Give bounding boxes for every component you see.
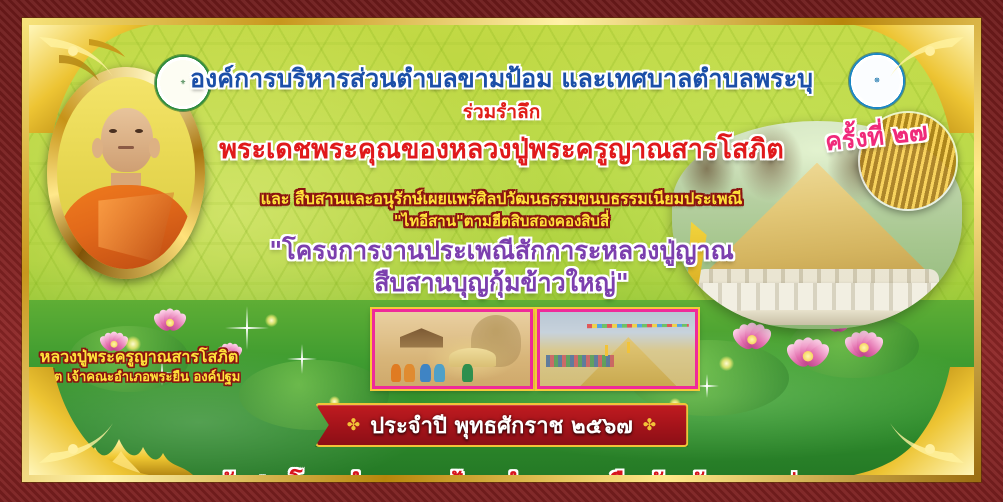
light-bokeh bbox=[265, 314, 278, 327]
festival-bunting-flags bbox=[587, 324, 689, 331]
painted-figure bbox=[391, 364, 402, 382]
lotus-flower bbox=[152, 305, 189, 331]
festival-flag bbox=[627, 342, 630, 354]
painted-hut bbox=[400, 328, 443, 347]
header-organizations: องค์การบริหารส่วนตำบลขามป้อม และเทศบาลตำ… bbox=[29, 59, 974, 99]
photo-village-painting bbox=[372, 309, 533, 389]
painted-figure bbox=[434, 364, 445, 382]
ribbon-ornament-right-icon: ✤ bbox=[643, 415, 656, 435]
painted-figure bbox=[404, 364, 415, 382]
photo-rice-festival bbox=[537, 309, 698, 389]
banner-canvas: ⚜ ☸ องค์การบริหารส่วนตำบลขามป้อม และเทศบ… bbox=[29, 25, 974, 475]
festival-flag bbox=[605, 345, 608, 357]
venue-line: ณ วัดสระโนน ตำบลขามป้อม อำเภอพระยืน จังห… bbox=[29, 463, 974, 475]
project-title-line-2: สืบสานบุญกุ้มข้าวใหญ่" bbox=[29, 263, 974, 303]
light-bokeh bbox=[719, 356, 734, 371]
painted-figure bbox=[462, 364, 473, 382]
year-ribbon: ✤ ประจำปี พุทธศักราช ๒๕๖๗ ✤ bbox=[315, 403, 688, 447]
festival-crowd bbox=[546, 355, 614, 367]
ribbon-ornament-left-icon: ✤ bbox=[347, 415, 360, 435]
portrait-role-caption: อดีต เจ้าคณะอำเภอพระยืน องค์ปฐม bbox=[29, 366, 249, 387]
lotus-flower bbox=[784, 333, 832, 367]
purpose-line-2: "ไทอีสาน"ตามฮีตสิบสองคองสิบสี่ bbox=[29, 209, 974, 233]
rice-platform bbox=[678, 310, 956, 325]
painted-rice-pile bbox=[449, 348, 496, 367]
event-banner: ⚜ ☸ องค์การบริหารส่วนตำบลขามป้อม และเทศบ… bbox=[0, 0, 1003, 502]
painted-figure bbox=[420, 364, 431, 382]
year-ribbon-text: ประจำปี พุทธศักราช ๒๕๖๗ bbox=[370, 408, 633, 443]
